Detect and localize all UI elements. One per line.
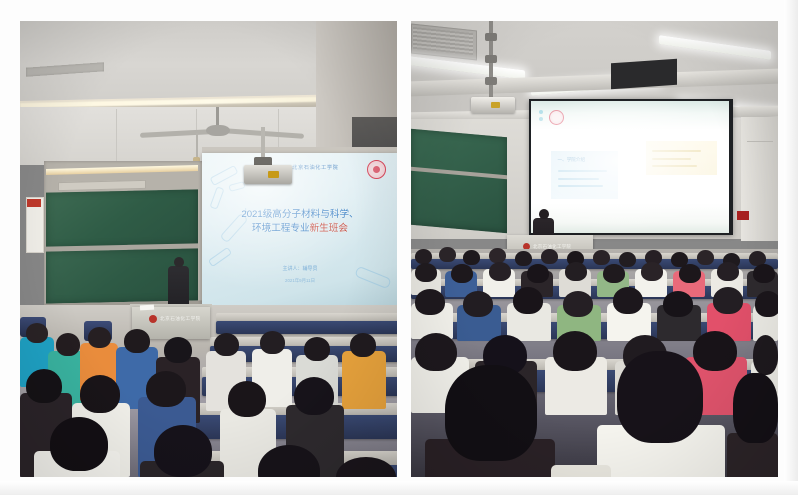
ceiling-fan-hub (206, 125, 230, 136)
student-head (294, 377, 334, 415)
projection-screen-right: 一、学院介绍 (531, 101, 729, 233)
projector-lens (268, 171, 279, 178)
pole-joint (485, 33, 497, 41)
ceiling-equipment-box (611, 59, 677, 90)
projector-lens (491, 102, 500, 108)
foreground-student-head (617, 351, 703, 443)
screen-glare (531, 101, 729, 233)
student-head (350, 333, 376, 357)
student-head (717, 262, 739, 281)
student-head (164, 337, 192, 363)
student-head (154, 425, 212, 477)
lectern-label: 北京石油化工学院 (160, 316, 201, 322)
student-head (563, 291, 593, 317)
student-head (463, 291, 493, 317)
student-head (124, 329, 150, 353)
student-head (489, 248, 506, 263)
front-door (741, 117, 778, 241)
speaker-head (539, 209, 549, 219)
student-head (80, 375, 120, 413)
wall-panel-seam (116, 109, 117, 165)
student-head (513, 287, 543, 314)
student-head (753, 335, 778, 375)
student-head (451, 264, 473, 283)
student-head (527, 264, 549, 283)
student-head (146, 371, 186, 407)
student-head (603, 264, 625, 283)
student-head (619, 252, 636, 267)
student-head (26, 369, 62, 403)
desk-row (216, 321, 397, 334)
student-head (663, 291, 693, 317)
student-head (304, 337, 330, 361)
student-head (755, 291, 778, 317)
student-head (541, 249, 558, 264)
foreground-student-head (733, 373, 778, 443)
student-head (713, 287, 743, 314)
student-head (753, 264, 775, 283)
student-head (415, 249, 432, 264)
projection-screen-left: ＋ 北京石油化工学院 2021级高分子材料与科学、 环境工程专业新生班会 主讲人… (202, 153, 397, 305)
student-head (26, 323, 48, 343)
foreground-student-arm (551, 465, 611, 477)
student-head (693, 331, 737, 371)
school-seal-icon (149, 315, 157, 323)
student-head (565, 262, 587, 281)
fan-pull-chain (196, 133, 198, 159)
blackboard (411, 129, 507, 233)
door-seam (747, 141, 773, 142)
pole-joint (485, 55, 497, 63)
page-canvas: ＋ 北京石油化工学院 2021级高分子材料与科学、 环境工程专业新生班会 主讲人… (0, 0, 798, 495)
student-head (260, 331, 285, 354)
student-head (463, 250, 480, 265)
student-head (679, 264, 701, 283)
wall-notice-header (27, 199, 41, 207)
student-head (553, 331, 597, 371)
speaker-body (168, 266, 189, 306)
student-head (88, 327, 111, 348)
photo-left[interactable]: ＋ 北京石油化工学院 2021级高分子材料与科学、 环境工程专业新生班会 主讲人… (20, 21, 397, 477)
student-head (228, 381, 266, 417)
student-head (415, 263, 437, 282)
student-head (697, 250, 714, 265)
student-head (56, 333, 80, 356)
page-edge-shadow-right (784, 0, 798, 495)
projector-mount-pole (261, 127, 265, 161)
student-head (50, 417, 108, 471)
page-edge-shadow-bottom (0, 481, 798, 495)
student-torso (342, 351, 386, 409)
foreground-student-head (445, 365, 537, 461)
student-head (641, 262, 663, 281)
student-head (613, 287, 643, 314)
student-head (439, 247, 456, 262)
blackboard-upper-panel (46, 189, 198, 247)
photo-right[interactable]: 一、学院介绍 北京石油化工学院 (411, 21, 778, 477)
student-head (593, 250, 610, 265)
pole-joint (485, 77, 497, 85)
lectern-paper (140, 305, 154, 311)
student-head (489, 262, 511, 281)
student-head (415, 289, 445, 315)
screen-glare (202, 153, 397, 305)
speaker-head (174, 257, 184, 267)
student-head (214, 333, 239, 356)
wall-red-marker (737, 211, 749, 220)
student-head (415, 333, 457, 371)
student-head (515, 251, 532, 266)
